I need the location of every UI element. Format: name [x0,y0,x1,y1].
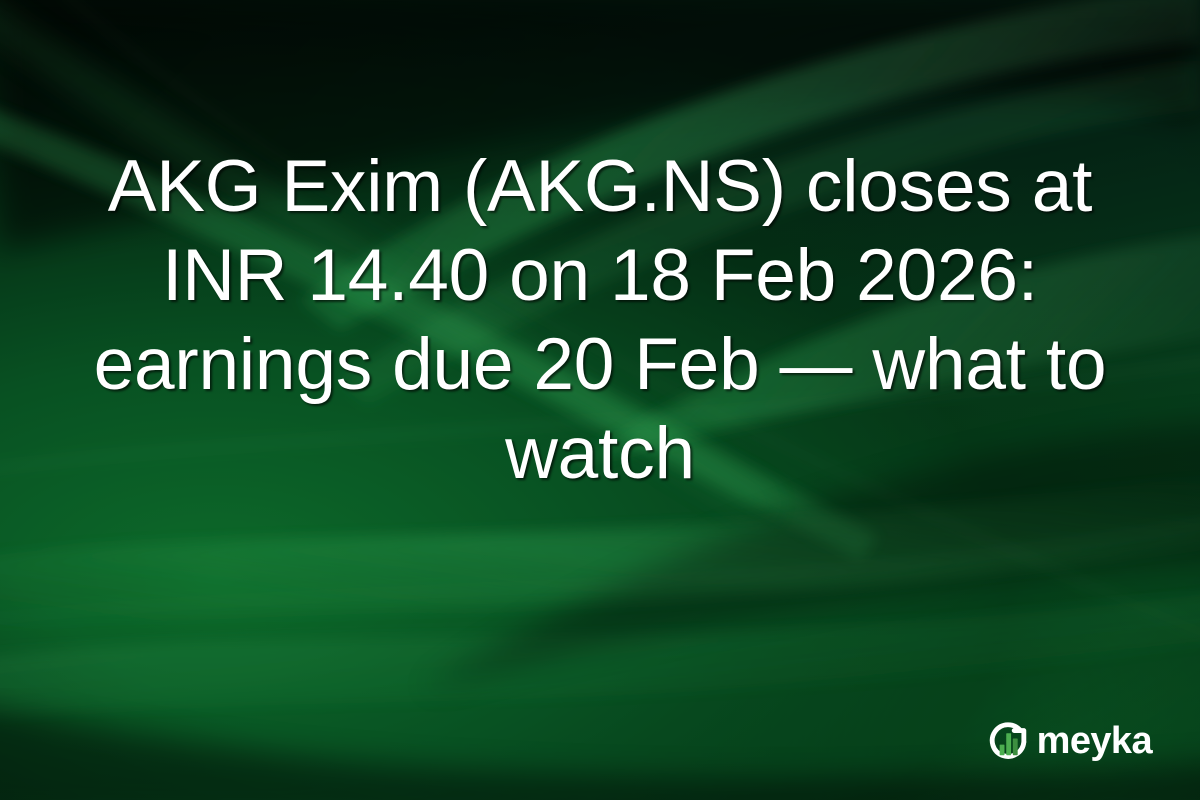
headline-container: AKG Exim (AKG.NS) closes at INR 14.40 on… [0,0,1200,640]
meyka-wordmark: meyka [1037,722,1152,760]
logo-bar-tall [1006,733,1011,755]
meyka-logo[interactable]: meyka [986,720,1152,764]
headline-text: AKG Exim (AKG.NS) closes at INR 14.40 on… [62,142,1138,498]
meyka-bar-chart-ring-icon [986,720,1030,764]
logo-bar-mid [1013,738,1018,755]
social-share-card: AKG Exim (AKG.NS) closes at INR 14.40 on… [0,0,1200,800]
logo-bar-short [999,745,1004,756]
